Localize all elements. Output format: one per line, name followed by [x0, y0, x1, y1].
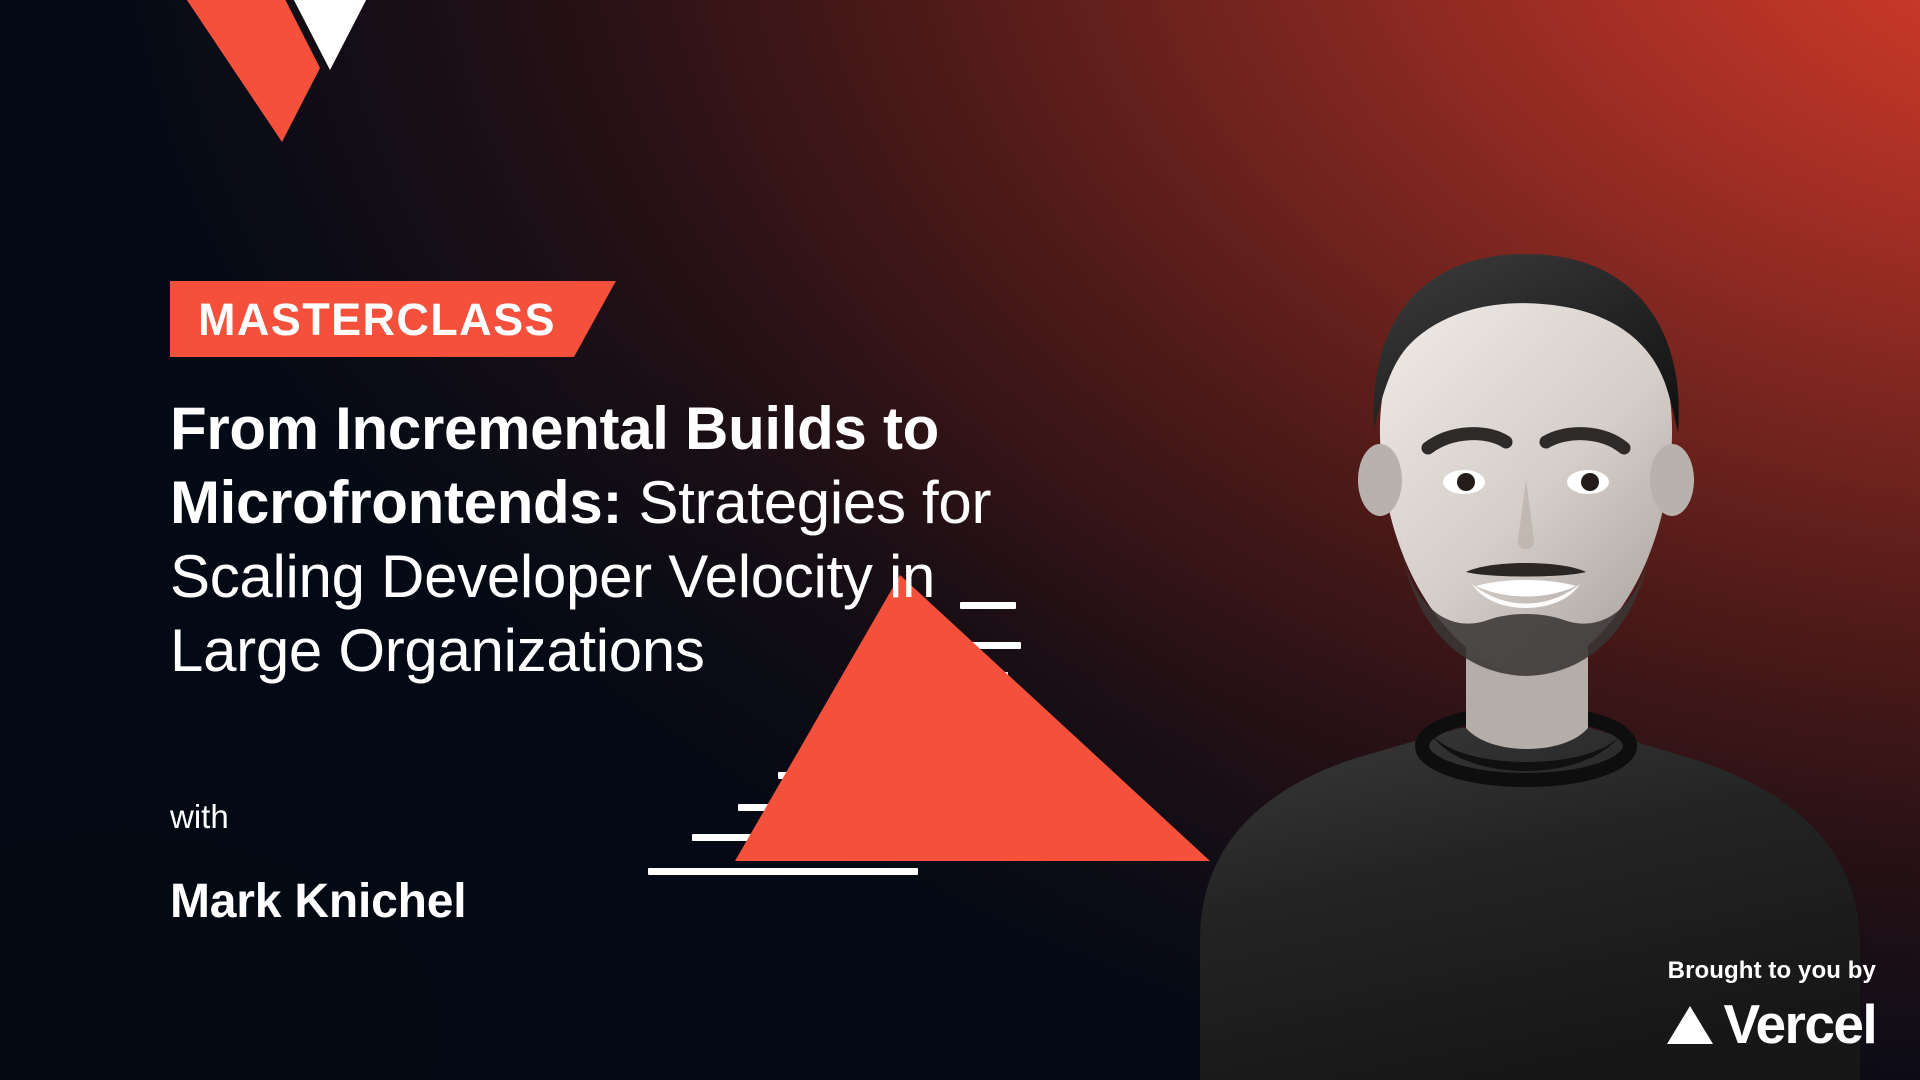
- sponsor-lockup: Brought to you by Vercel: [1666, 959, 1877, 1052]
- vercel-wordmark: Vercel: [1724, 997, 1877, 1052]
- masterclass-badge: MASTERCLASS: [170, 281, 616, 357]
- vercel-triangle-icon: [1666, 1004, 1714, 1046]
- masterclass-badge-label: MASTERCLASS: [198, 297, 556, 342]
- vercel-logo: Vercel: [1666, 997, 1877, 1052]
- page-title: From Incremental Builds to Microfrontend…: [170, 392, 1070, 688]
- promo-card-canvas: MASTERCLASS From Incremental Builds to M…: [0, 0, 1920, 1080]
- content-column: MASTERCLASS From Incremental Builds to M…: [170, 0, 1110, 1080]
- masterclass-badge-wrap: MASTERCLASS: [170, 281, 616, 357]
- sponsor-kicker: Brought to you by: [1666, 959, 1877, 983]
- speaker-portrait: [1160, 180, 1920, 1080]
- speaker-name: Mark Knichel: [170, 878, 466, 926]
- with-label: with: [170, 800, 229, 833]
